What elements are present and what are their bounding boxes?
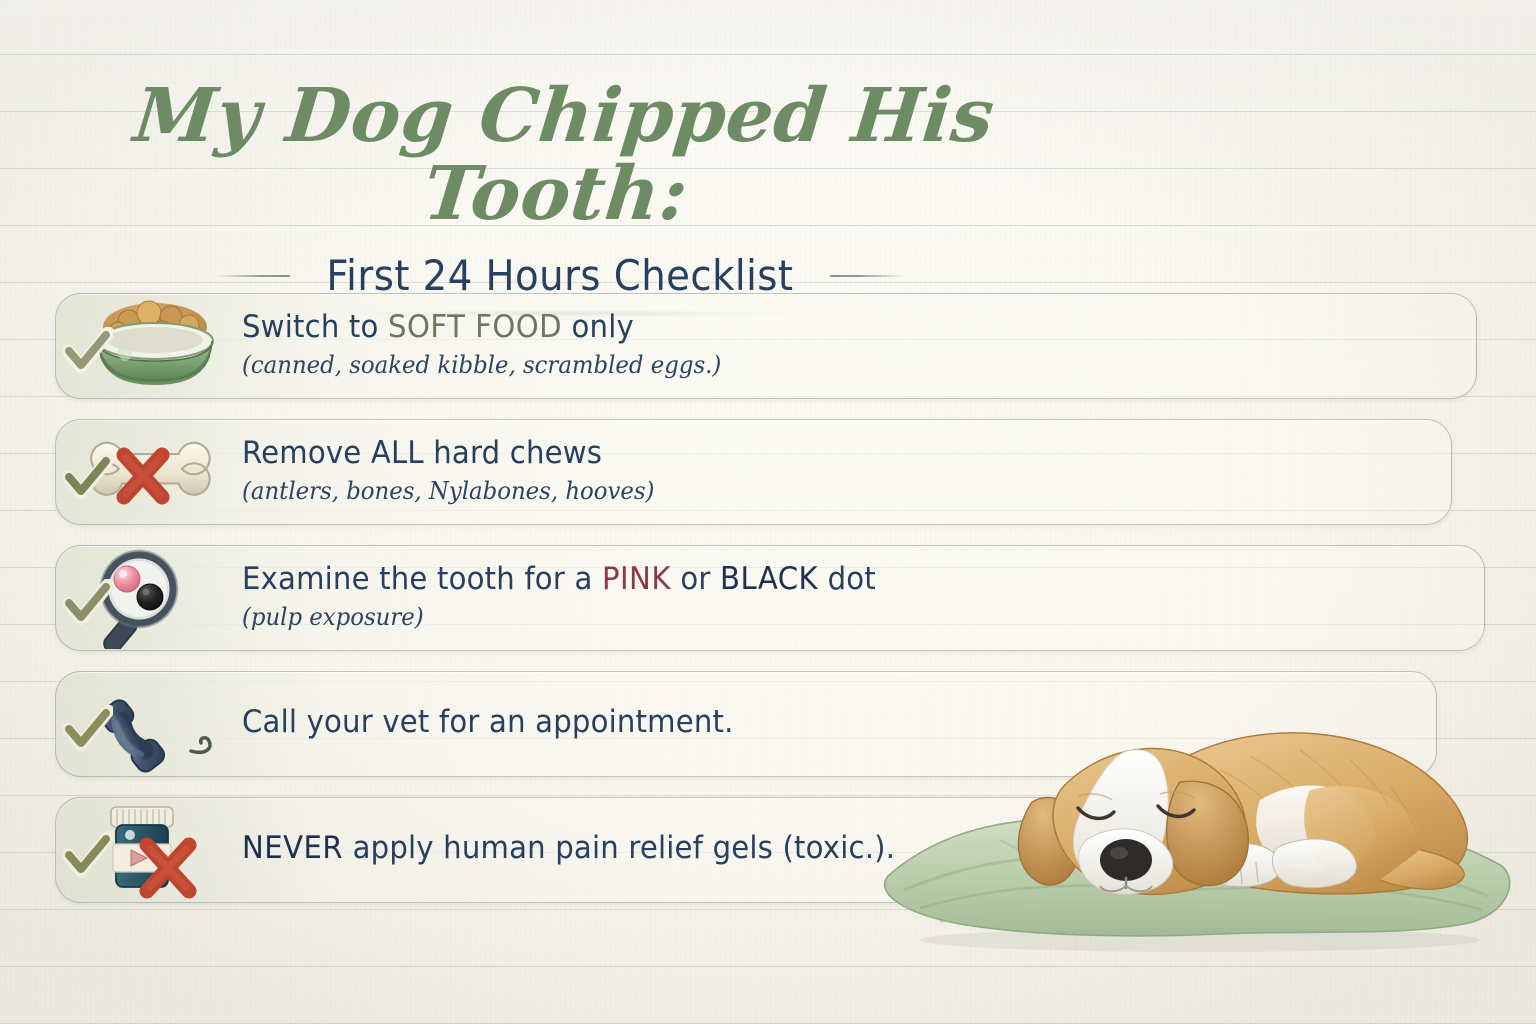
checklist-item-icon-zone — [55, 671, 240, 775]
title-part-emphasis: SOFT FOOD — [388, 309, 562, 345]
page-title: My Dog Chipped His Tooth: — [0, 78, 1128, 233]
title-part: or — [671, 561, 720, 597]
dog-head — [1018, 748, 1248, 894]
checkmark-icon — [63, 327, 113, 377]
poster-header: My Dog Chipped His Tooth: First 24 Hours… — [0, 78, 1120, 317]
subtitle-dash-right — [830, 275, 904, 277]
title-part: Examine the tooth for a — [242, 561, 602, 597]
poster-canvas: My Dog Chipped His Tooth: First 24 Hours… — [0, 0, 1536, 1024]
checklist-item-text: NEVER apply human pain relief gels (toxi… — [240, 831, 937, 866]
title-part-emphasis-black: BLACK — [720, 561, 818, 597]
checklist-item-text: Examine the tooth for a PINK or BLACK do… — [240, 562, 916, 632]
checklist-item-icon-zone — [55, 419, 240, 523]
title-part: Switch to — [242, 309, 388, 345]
checklist-item-icon-zone — [55, 545, 240, 649]
checklist-item-title: NEVER apply human pain relief gels (toxi… — [242, 831, 895, 866]
checklist-item-title: Call your vet for an appointment. — [242, 705, 734, 740]
checklist-item-title: Examine the tooth for a PINK or BLACK do… — [242, 562, 876, 597]
checklist-item-subtitle: (antlers, bones, Nylabones, hooves) — [242, 477, 654, 506]
checkmark-icon — [63, 453, 113, 503]
checklist-item-text: Switch to SOFT FOOD only (canned, soaked… — [240, 310, 747, 380]
checklist-item[interactable]: Remove ALL hard chews (antlers, bones, N… — [55, 419, 1487, 523]
checklist-item-text: Call your vet for an appointment. — [240, 705, 765, 740]
checklist-item-title: Switch to SOFT FOOD only — [242, 310, 716, 345]
checkmark-icon — [63, 831, 113, 881]
title-part: apply human pain relief gels (toxic.). — [343, 830, 895, 866]
subtitle-dash-left — [216, 275, 290, 277]
checkmark-icon — [63, 579, 113, 629]
checklist-item[interactable]: Examine the tooth for a PINK or BLACK do… — [55, 545, 1487, 649]
checklist-item-text: Remove ALL hard chews (antlers, bones, N… — [240, 436, 676, 506]
title-part: only — [562, 309, 634, 345]
title-part-emphasis-pink: PINK — [602, 561, 671, 597]
checklist-item-subtitle: (canned, soaked kibble, scrambled eggs.) — [242, 351, 721, 380]
title-part-emphasis-never: NEVER — [242, 830, 343, 866]
title-part: dot — [818, 561, 876, 597]
checklist-item-icon-zone — [55, 797, 240, 901]
checklist-item-subtitle: (pulp exposure) — [242, 603, 883, 632]
checklist-item[interactable]: Switch to SOFT FOOD only (canned, soaked… — [55, 293, 1487, 397]
checkmark-icon — [63, 705, 113, 755]
checklist-item-title: Remove ALL hard chews — [242, 436, 650, 471]
checklist-item-icon-zone — [55, 293, 240, 397]
sleeping-dog-illustration — [880, 690, 1520, 960]
